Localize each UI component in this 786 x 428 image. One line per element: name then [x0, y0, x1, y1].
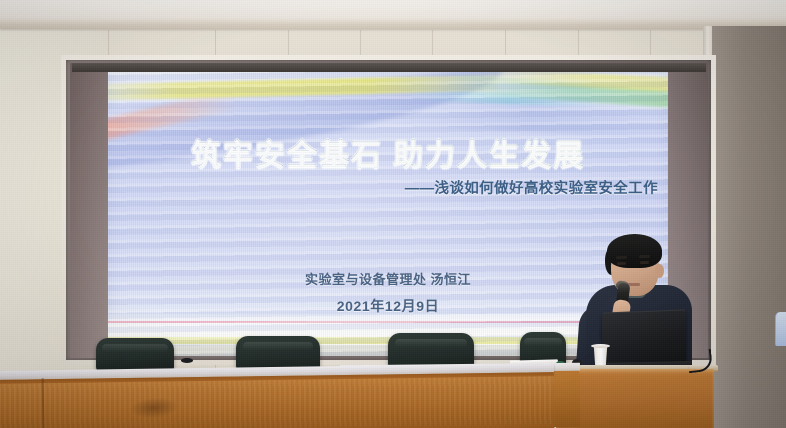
projected-slide: 筑牢安全基石 助力人生发展 ——浅谈如何做好高校实验室安全工作 实验室与设备管理… — [108, 72, 668, 356]
desk-object — [181, 358, 193, 363]
slide-text-block: 筑牢安全基石 助力人生发展 ——浅谈如何做好高校实验室安全工作 实验室与设备管理… — [108, 72, 668, 356]
slide-subtitle: ——浅谈如何做好高校实验室安全工作 — [108, 177, 668, 198]
slide-date: 2021年12月9日 — [108, 296, 668, 316]
slide-title: 筑牢安全基石 助力人生发展 — [108, 130, 668, 174]
slide-presenter: 实验室与设备管理处 汤恒江 — [108, 269, 668, 288]
right-column — [712, 26, 786, 428]
photo-scene: 筑牢安全基石 助力人生发展 ——浅谈如何做好高校实验室安全工作 实验室与设备管理… — [0, 0, 786, 428]
screen-top-bar — [72, 63, 706, 72]
ceiling-trim — [0, 20, 786, 29]
screen-left-reveal — [70, 63, 110, 358]
blue-wall-object — [775, 312, 786, 346]
